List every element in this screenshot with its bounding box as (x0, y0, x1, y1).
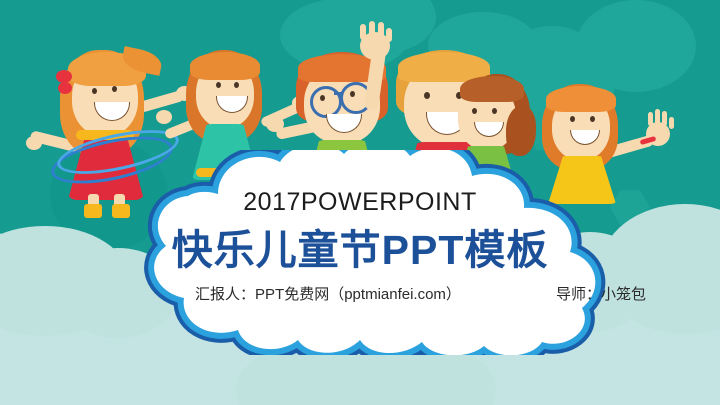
mentor-line: 导师：小笼包 (556, 283, 646, 304)
cloud-shape-background (576, 0, 696, 92)
ponytail (506, 106, 536, 156)
slide-main-title: 快乐儿童节PPT模板 (0, 216, 720, 276)
slide-eyebrow-text: 2017POWERPOINT (0, 188, 720, 217)
presenter-line: 汇报人：PPT免费网（pptmianfei.com） (138, 283, 518, 304)
presentation-slide: 2017POWERPOINT 快乐儿童节PPT模板 汇报人：PPT免费网（ppt… (0, 0, 720, 405)
